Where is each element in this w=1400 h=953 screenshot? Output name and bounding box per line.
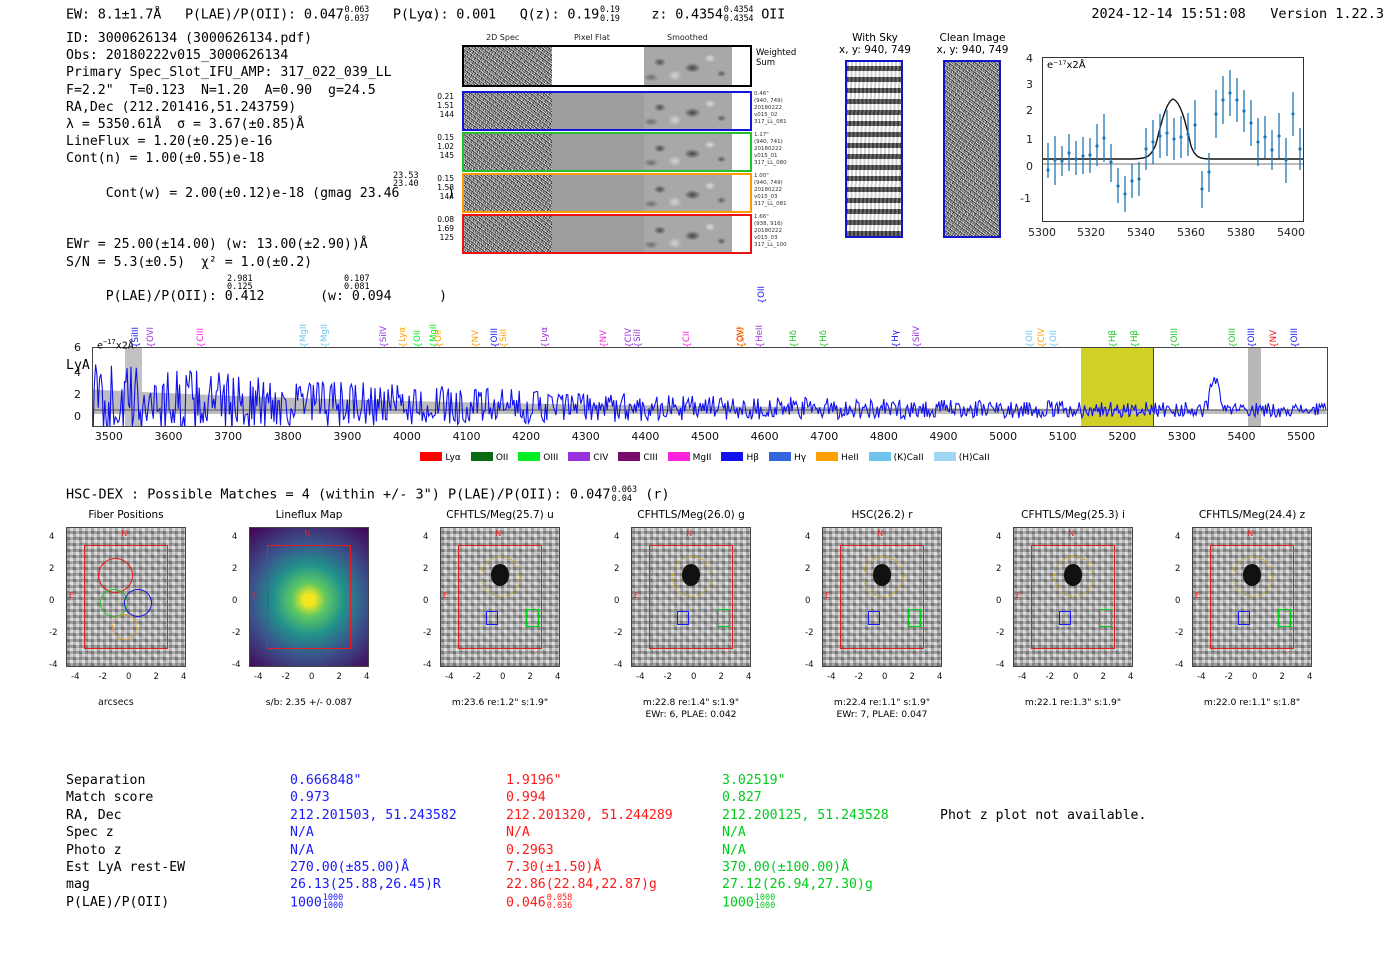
spectrum-ytick-2: 2 xyxy=(74,388,81,401)
fiber1-meta-4: v015_02 xyxy=(754,112,802,118)
line-plot-ytick-2: 2 xyxy=(1026,104,1033,117)
cutout-0-ytick-4: 4 xyxy=(49,532,54,542)
legend-label-KCaII: (K)CaII xyxy=(894,453,924,463)
cutout-caption-1: s/b: 2.35 +/- 0.087 xyxy=(209,697,409,709)
table-row-label-2: RA, Dec xyxy=(66,807,290,824)
full-spectrum-axes xyxy=(92,347,1328,427)
legend-label-CIV: CIV xyxy=(593,453,608,463)
cutout-4-xtick-0: -4 xyxy=(827,672,835,682)
cutout-3-ytick-4: 4 xyxy=(614,532,619,542)
cutouts-heading-text: HSC-DEX : Possible Matches = 4 (within +… xyxy=(66,487,611,503)
line-marker-NV-10: NV xyxy=(472,330,481,342)
cutout-6-xtick-0: -4 xyxy=(1197,672,1205,682)
cutout-6-ytick-0: -4 xyxy=(1175,660,1183,670)
cutout-source-blob-6 xyxy=(1243,564,1262,586)
spectrum-xtick-4200: 4200 xyxy=(512,430,540,443)
table-cell-0-2: 3.02519" xyxy=(722,772,938,789)
fiber1-smoothed xyxy=(644,93,732,129)
weighted-sum-pixelflat xyxy=(552,47,644,85)
table-row: Spec zN/AN/AN/A xyxy=(66,824,938,841)
cutout-caption-line1-2: m:23.6 re:1.2" s:1.9" xyxy=(400,697,600,709)
table-cell-1-2: 0.827 xyxy=(722,789,938,806)
legend-swatch-H xyxy=(769,452,791,461)
line-marker-CII-17: CII xyxy=(683,331,692,342)
line-marker-MgII-3: MgII xyxy=(300,324,309,342)
cutout-3-ytick-2: 0 xyxy=(614,596,619,606)
cutout-caption-line1-3: m:22.8 re:1.4" s:1.9" xyxy=(591,697,791,709)
cutout-blue-marker-4 xyxy=(868,611,881,625)
fiber4-val-3: 125 xyxy=(424,234,454,243)
cutout-6-xtick-2: 0 xyxy=(1252,672,1257,682)
table-cell-7-2: 100010001000 xyxy=(722,894,938,912)
cutout-1-xtick-2: 0 xyxy=(309,672,314,682)
spectrum-units: e−17x2Å xyxy=(97,338,134,351)
header-plae-range: 0.0630.037 xyxy=(345,6,370,23)
table-cell-range: 0.0580.036 xyxy=(547,894,573,911)
line-marker-NV-14: NV xyxy=(600,330,609,342)
cutout-caption-6: m:22.0 re:1.1" s:1.8" xyxy=(1152,697,1352,709)
cutout-0-ytick-3: 2 xyxy=(49,564,54,574)
spectrum-xtick-5100: 5100 xyxy=(1049,430,1077,443)
panel-title-pixelflat: Pixel Flat xyxy=(574,33,610,42)
line-plot-xtick-5360: 5360 xyxy=(1177,226,1205,239)
fiber-strip-2 xyxy=(462,132,752,172)
cutout-caption-2: m:23.6 re:1.2" s:1.9" xyxy=(400,697,600,709)
cutout-image-4[interactable]: NE xyxy=(822,527,942,667)
spectrum-xtick-5000: 5000 xyxy=(989,430,1017,443)
cutout-image-0[interactable]: NE xyxy=(66,527,186,667)
fiber4-pixelflat xyxy=(552,216,644,252)
fiber4-meta-2: (938, 916) xyxy=(754,221,802,227)
cutout-2-xtick-4: 4 xyxy=(555,672,560,682)
cutout-east-label-3: E xyxy=(634,591,639,600)
twod-spectra-panel: 2D Spec Pixel Flat Smoothed Weighted Sum… xyxy=(462,33,762,258)
legend-label-OII: OII xyxy=(496,453,508,463)
fiber3-smoothed xyxy=(644,175,732,211)
spectrum-xtick-5400: 5400 xyxy=(1228,430,1256,443)
table-row-label-6: mag xyxy=(66,876,290,893)
table-cell-7-0: 100010001000 xyxy=(290,894,506,912)
emission-line-svg xyxy=(1043,58,1303,221)
line-marker-NV-34: NV xyxy=(1270,330,1279,342)
cutout-north-label-3: N xyxy=(686,529,692,538)
cutout-5-xtick-0: -4 xyxy=(1018,672,1026,682)
fiber2-meta-1: 1.17" xyxy=(754,132,802,138)
cutout-east-label-0: E xyxy=(69,591,74,600)
fiber1-meta-5: 317_LL_081 xyxy=(754,119,802,125)
line-marker-HeII-20: HeII xyxy=(756,325,765,342)
cutout-image-1[interactable]: NE xyxy=(249,527,369,667)
line-marker-OIII-31: OIII xyxy=(1171,328,1180,342)
line-marker-Ly-13: Lyα xyxy=(541,327,550,342)
line-marker-OIII-35: OIII xyxy=(1291,328,1300,342)
table-cell-value: 1000 xyxy=(722,895,754,910)
info-line-contn: Cont(n) = 1.00(±0.55)e-18 xyxy=(66,150,455,167)
table-cell-3-0: N/A xyxy=(290,824,506,841)
header-plae: P(LAE)/P(OII): 0.047 xyxy=(185,7,344,23)
cutout-source-blob-5 xyxy=(1064,564,1083,586)
cutout-4-xtick-1: -2 xyxy=(855,672,863,682)
cutout-5-xtick-1: -2 xyxy=(1046,672,1054,682)
line-plot-xtick-5300: 5300 xyxy=(1028,226,1056,239)
fiber4-meta-3: 20180222 xyxy=(754,228,802,234)
fiber3-meta-2: (940, 749) xyxy=(754,180,802,186)
cutout-3-xtick-4: 4 xyxy=(746,672,751,682)
weighted-sum-strip xyxy=(462,45,752,87)
fiber1-meta-1: 0.46" xyxy=(754,91,802,97)
legend-swatch-HCaII xyxy=(934,452,956,461)
cutout-1-xtick-3: 2 xyxy=(337,672,342,682)
spectrum-xtick-4400: 4400 xyxy=(631,430,659,443)
cutout-title-4: HSC(26.2) r xyxy=(792,509,972,521)
table-cell-3-2: N/A xyxy=(722,824,938,841)
spectrum-xtick-4000: 4000 xyxy=(393,430,421,443)
with-sky-title-group: With Sky x, y: 940, 749 xyxy=(830,32,920,56)
line-plot-ytick-3: 3 xyxy=(1026,78,1033,91)
weighted-sum-label-2: Sum xyxy=(756,59,775,68)
spectrum-legend: LyαOIIOIIICIVCIIIMgIIHβHγHeII(K)CaII(H)C… xyxy=(0,452,1400,463)
fiber4-smoothed xyxy=(644,216,732,252)
cutout-east-label-6: E xyxy=(1195,591,1200,600)
cutout-0-ytick-0: -4 xyxy=(49,660,57,670)
fiber2-meta-3: 20180222 xyxy=(754,146,802,152)
fiber1-pixelflat xyxy=(552,93,644,129)
table-cell-2-0: 212.201503, 51.243582 xyxy=(290,807,506,824)
cutout-4-ytick-4: 4 xyxy=(805,532,810,542)
cutout-east-label-2: E xyxy=(443,591,448,600)
cutout-north-label-5: N xyxy=(1068,529,1074,538)
fiber2-meta-2: (940, 741) xyxy=(754,139,802,145)
fiber2-meta-4: v015_01 xyxy=(754,153,802,159)
spectrum-xtick-4100: 4100 xyxy=(453,430,481,443)
clean-image-title-group: Clean Image x, y: 940, 749 xyxy=(925,32,1020,56)
cutout-3-ytick-0: -4 xyxy=(614,660,622,670)
table-cell-6-2: 27.12(26.94,27.30)g xyxy=(722,876,938,893)
cutout-2-xtick-1: -2 xyxy=(473,672,481,682)
table-row: RA, Dec212.201503, 51.243582212.201320, … xyxy=(66,807,938,824)
info-line-amp: Primary Spec_Slot_IFU_AMP: 317_022_039_L… xyxy=(66,64,455,81)
table-cell-0-0: 0.666848" xyxy=(290,772,506,789)
cutout-2-ytick-0: -4 xyxy=(423,660,431,670)
info-line-params: F=2.2" T=0.123 N=1.20 A=0.90 g=24.5 xyxy=(66,82,455,99)
header-meta: 2024-12-14 15:51:08 Version 1.22.3 xyxy=(1091,6,1384,22)
table-row: P(LAE)/P(OII)1000100010000.0460.0580.036… xyxy=(66,894,938,912)
spectrum-xtick-3600: 3600 xyxy=(154,430,182,443)
cutout-5-ytick-3: 2 xyxy=(996,564,1001,574)
cutout-0-xtick-1: -2 xyxy=(99,672,107,682)
table-row: Photo zN/A0.2963N/A xyxy=(66,842,938,859)
line-plot-ytick-0: 0 xyxy=(1026,160,1033,173)
fiber-circle-blue xyxy=(124,589,152,617)
cutout-image-2[interactable]: NE xyxy=(440,527,560,667)
table-row-label-5: Est LyA rest-EW xyxy=(66,859,290,876)
cutout-1-ytick-0: -4 xyxy=(232,660,240,670)
fiber4-2dspec xyxy=(464,216,552,252)
fiber-strip-3 xyxy=(462,173,752,213)
weighted-sum-label-1: Weighted xyxy=(756,49,796,58)
fiber3-meta-1: 1.00" xyxy=(754,173,802,179)
cutout-green-marker-5 xyxy=(1099,609,1112,626)
cutout-5-xtick-2: 0 xyxy=(1073,672,1078,682)
photz-note: Phot z plot not available. xyxy=(940,808,1146,823)
weighted-sum-2dspec xyxy=(464,47,552,85)
cutout-0-xtick-0: -4 xyxy=(71,672,79,682)
cutout-2-ytick-3: 2 xyxy=(423,564,428,574)
cutouts-heading-range: 0.0630.04 xyxy=(612,486,638,503)
cutout-caption-line2-4: EWr: 7, PLAE: 0.047 xyxy=(782,709,982,721)
fiber4-meta-5: 317_LL_100 xyxy=(754,242,802,248)
cutout-image-3[interactable]: NE xyxy=(631,527,751,667)
line-marker-SiII-12: SiII xyxy=(500,329,509,342)
legend-label-HeII: HeII xyxy=(841,453,859,463)
cutout-title-3: CFHTLS/Meg(26.0) g xyxy=(601,509,781,521)
fiber2-pixelflat xyxy=(552,134,644,170)
cutout-green-marker-3 xyxy=(717,609,730,626)
line-marker-Ly-6: Lyα xyxy=(399,327,408,342)
panel-title-smoothed: Smoothed xyxy=(667,33,708,42)
cutout-2-ytick-4: 4 xyxy=(423,532,428,542)
table-cell-4-0: N/A xyxy=(290,842,506,859)
emission-line-plot: e⁻¹⁷x2Å xyxy=(1042,57,1304,222)
cutout-east-label-4: E xyxy=(825,591,830,600)
table-row-label-3: Spec z xyxy=(66,824,290,841)
spectrum-xtick-4500: 4500 xyxy=(691,430,719,443)
match-table: Separation0.666848"1.9196"3.02519"Match … xyxy=(66,772,938,912)
emission-line-markers: SiIII{OVI{CIII{MgII{MgII{SiIV{Lyα{OII{Mg… xyxy=(0,276,1400,348)
clean-image-title: Clean Image xyxy=(925,32,1020,44)
table-cell-range: 10001000 xyxy=(755,894,775,911)
cutout-5-ytick-1: -2 xyxy=(996,628,1004,638)
line-marker-OII-7: OII xyxy=(414,330,423,342)
info-line-lineflux: LineFlux = 1.20(±0.25)e-16 xyxy=(66,133,455,150)
table-cell-3-1: N/A xyxy=(506,824,722,841)
cutouts-heading: HSC-DEX : Possible Matches = 4 (within +… xyxy=(66,486,670,503)
header-plya: P(Lyα): 0.001 xyxy=(393,7,496,23)
line-marker-H-29: Hβ xyxy=(1109,330,1118,342)
info-line-lambda: λ = 5350.61Å σ = 3.67(±0.85)Å xyxy=(66,116,455,133)
cutout-north-label-1: N xyxy=(304,529,310,538)
fiber2-meta-5: 317_LL_080 xyxy=(754,160,802,166)
with-sky-image xyxy=(845,60,903,238)
cutout-4-ytick-2: 0 xyxy=(805,596,810,606)
cutout-1-ytick-3: 2 xyxy=(232,564,237,574)
legend-label-HCaII: (H)CaII xyxy=(959,453,990,463)
fiber2-2dspec xyxy=(464,134,552,170)
cutout-0-ytick-1: -2 xyxy=(49,628,57,638)
cutout-3-ytick-1: -2 xyxy=(614,628,622,638)
cutout-north-label-0: N xyxy=(121,529,127,538)
cutout-1-ytick-1: -2 xyxy=(232,628,240,638)
spectrum-xtick-3900: 3900 xyxy=(333,430,361,443)
cutout-east-label-5: E xyxy=(1016,591,1021,600)
table-cell-1-1: 0.994 xyxy=(506,789,722,806)
cutout-4-xtick-2: 0 xyxy=(882,672,887,682)
cutout-1-ytick-2: 0 xyxy=(232,596,237,606)
line-marker-CIV-15: CIV xyxy=(625,328,634,342)
cutout-6-ytick-1: -2 xyxy=(1175,628,1183,638)
fiber-strip-1 xyxy=(462,91,752,131)
table-cell-5-0: 270.00(±85.00)Å xyxy=(290,859,506,876)
legend-label-OIII: OIII xyxy=(543,453,558,463)
header-ew: EW: 8.1±1.7Å xyxy=(66,7,161,23)
fiber1-val-3: 144 xyxy=(424,111,454,120)
cutout-redbox-1 xyxy=(267,545,352,650)
cutout-title-5: CFHTLS/Meg(25.3) i xyxy=(983,509,1163,521)
table-cell-value: 1000 xyxy=(290,895,322,910)
table-cell-5-2: 370.00(±100.00)Å xyxy=(722,859,938,876)
line-plot-xtick-5340: 5340 xyxy=(1127,226,1155,239)
cutout-image-6[interactable]: NE xyxy=(1192,527,1312,667)
legend-label-Ly: Lyα xyxy=(445,453,460,463)
legend-swatch-MgII xyxy=(668,452,690,461)
info-line-radec: RA,Dec (212.201416,51.243759) xyxy=(66,99,455,116)
header-qz: Q(z): 0.19 xyxy=(520,7,599,23)
cutout-title-0: Fiber Positions xyxy=(36,509,216,521)
line-marker-CIII-2: CIII xyxy=(197,328,206,342)
fiber3-2dspec xyxy=(464,175,552,211)
line-marker-OII-26: OII xyxy=(1026,330,1035,342)
cutout-4-ytick-0: -4 xyxy=(805,660,813,670)
fiber3-meta-3: 20180222 xyxy=(754,187,802,193)
table-cell-0-1: 1.9196" xyxy=(506,772,722,789)
line-marker-SiIV-25: SiIV xyxy=(913,326,922,342)
cutout-green-marker-4 xyxy=(908,609,921,626)
line-brace-21: { xyxy=(758,298,768,304)
cutout-2-xtick-2: 0 xyxy=(500,672,505,682)
table-row: Match score0.9730.9940.827 xyxy=(66,789,938,806)
line-marker-H-30: Hβ xyxy=(1131,330,1140,342)
cutout-source-blob-4 xyxy=(873,564,892,586)
table-row-label-7: P(LAE)/P(OII) xyxy=(66,894,290,912)
line-plot-ytick-1: 1 xyxy=(1026,133,1033,146)
legend-swatch-OII xyxy=(471,452,493,461)
cutout-2-xtick-0: -4 xyxy=(445,672,453,682)
legend-swatch-HeII xyxy=(816,452,838,461)
table-row: mag26.13(25.88,26.45)R22.86(22.84,22.87)… xyxy=(66,876,938,893)
fiber1-meta-3: 20180222 xyxy=(754,105,802,111)
line-marker-H-22: Hδ xyxy=(790,330,799,342)
table-cell-2-1: 212.201320, 51.244289 xyxy=(506,807,722,824)
info-line-id: ID: 3000626134 (3000626134.pdf) xyxy=(66,30,455,47)
spectrum-xtick-5200: 5200 xyxy=(1108,430,1136,443)
cutout-2-ytick-1: -2 xyxy=(423,628,431,638)
timestamp: 2024-12-14 15:51:08 xyxy=(1091,6,1245,22)
info-gmag-range: 23.5323.40 xyxy=(393,172,419,189)
line-plot-units: e⁻¹⁷x2Å xyxy=(1047,60,1086,71)
fiber4-meta-1: 1.66" xyxy=(754,214,802,220)
cutout-green-marker-2 xyxy=(526,609,539,626)
line-marker-CIV-27: CIV xyxy=(1038,328,1047,342)
cutout-6-xtick-4: 4 xyxy=(1307,672,1312,682)
line-marker-SiII-16: SiII xyxy=(634,329,643,342)
cutout-0-xtick-2: 0 xyxy=(126,672,131,682)
table-row-label-1: Match score xyxy=(66,789,290,806)
cutout-caption-4: m:22.4 re:1.1" s:1.9"EWr: 7, PLAE: 0.047 xyxy=(782,697,982,721)
cutout-caption-line1-5: m:22.1 re:1.3" s:1.9" xyxy=(973,697,1173,709)
table-row: Est LyA rest-EW270.00(±85.00)Å7.30(±1.50… xyxy=(66,859,938,876)
weighted-sum-smoothed xyxy=(644,47,732,85)
version-label: Version 1.22.3 xyxy=(1270,6,1384,22)
spectrum-ytick-0: 0 xyxy=(74,410,81,423)
legend-label-CIII: CIII xyxy=(643,453,657,463)
fiber1-2dspec xyxy=(464,93,552,129)
spectrum-ytick-6: 6 xyxy=(74,341,81,354)
header-z-type: OII xyxy=(761,7,785,23)
cutout-6-ytick-3: 2 xyxy=(1175,564,1180,574)
cutout-image-5[interactable]: NE xyxy=(1013,527,1133,667)
cutout-5-ytick-4: 4 xyxy=(996,532,1001,542)
spectrum-xtick-4300: 4300 xyxy=(572,430,600,443)
cutout-caption-line1-6: m:22.0 re:1.1" s:1.8" xyxy=(1152,697,1352,709)
table-cell-5-1: 7.30(±1.50)Å xyxy=(506,859,722,876)
header-z: z: 0.4354 xyxy=(651,7,722,23)
table-cell-1-0: 0.973 xyxy=(290,789,506,806)
with-sky-title: With Sky xyxy=(830,32,920,44)
info-line-ewr: EWr = 25.00(±14.00) (w: 13.00(±2.90))Å xyxy=(66,236,455,253)
legend-swatch-CIV xyxy=(568,452,590,461)
cutout-caption-line1-4: m:22.4 re:1.1" s:1.9" xyxy=(782,697,982,709)
legend-swatch-Ly xyxy=(420,452,442,461)
cutout-4-ytick-3: 2 xyxy=(805,564,810,574)
cutout-blue-marker-6 xyxy=(1238,611,1251,625)
cutout-north-label-4: N xyxy=(877,529,883,538)
spectrum-xtick-4700: 4700 xyxy=(810,430,838,443)
line-marker-OVI-1: OVI xyxy=(147,327,156,342)
fiber2-val-3: 145 xyxy=(424,152,454,161)
table-cell-6-0: 26.13(25.88,26.45)R xyxy=(290,876,506,893)
cutout-4-ytick-1: -2 xyxy=(805,628,813,638)
spectrum-xtick-3800: 3800 xyxy=(274,430,302,443)
line-marker-MgII-4: MgII xyxy=(321,324,330,342)
cutout-caption-line1-1: s/b: 2.35 +/- 0.087 xyxy=(209,697,409,709)
cutout-east-label-1: E xyxy=(252,591,257,600)
spectrum-xtick-3700: 3700 xyxy=(214,430,242,443)
table-cell-6-1: 22.86(22.84,22.87)g xyxy=(506,876,722,893)
table-cell-2-2: 212.200125, 51.243528 xyxy=(722,807,938,824)
legend-swatch-KCaII xyxy=(869,452,891,461)
cutout-0-ytick-2: 0 xyxy=(49,596,54,606)
cutouts-heading-tail: (r) xyxy=(645,487,669,503)
table-cell-range: 10001000 xyxy=(323,894,343,911)
cutout-1-ytick-4: 4 xyxy=(232,532,237,542)
cutout-3-xtick-2: 0 xyxy=(691,672,696,682)
spectrum-xtick-4600: 4600 xyxy=(751,430,779,443)
fiber1-meta-2: (940, 749) xyxy=(754,98,802,104)
clean-image xyxy=(943,60,1001,238)
legend-swatch-CIII xyxy=(618,452,640,461)
cutout-xaxis-label: arcsecs xyxy=(98,697,134,708)
cutout-5-xtick-4: 4 xyxy=(1128,672,1133,682)
cutout-5-xtick-3: 2 xyxy=(1101,672,1106,682)
cutout-3-xtick-0: -4 xyxy=(636,672,644,682)
cutout-blue-marker-5 xyxy=(1059,611,1072,625)
cutout-5-ytick-0: -4 xyxy=(996,660,1004,670)
cutout-4-xtick-3: 2 xyxy=(910,672,915,682)
cutout-5-ytick-2: 0 xyxy=(996,596,1001,606)
line-marker-OII-21: OII xyxy=(758,286,767,298)
table-cell-value: 0.046 xyxy=(506,895,546,910)
panel-title-2dspec: 2D Spec xyxy=(486,33,519,42)
cutout-4-xtick-4: 4 xyxy=(937,672,942,682)
line-marker-H-23: Hδ xyxy=(820,330,829,342)
cutout-3-xtick-1: -2 xyxy=(664,672,672,682)
cutout-title-2: CFHTLS/Meg(25.7) u xyxy=(410,509,590,521)
info-line-obs: Obs: 20180222v015_3000626134 xyxy=(66,47,455,64)
legend-label-MgII: MgII xyxy=(693,453,712,463)
spectrum-xtick-4900: 4900 xyxy=(929,430,957,443)
cutout-0-xtick-3: 2 xyxy=(154,672,159,682)
line-plot-ytick-m1: -1 xyxy=(1020,192,1031,205)
